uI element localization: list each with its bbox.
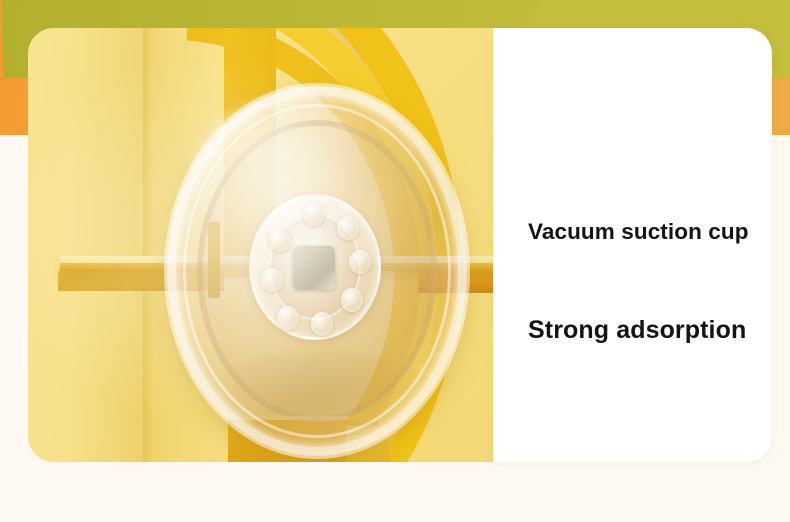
suction-hub-bump	[341, 288, 363, 312]
mount-tab	[208, 222, 220, 298]
suction-hub-bump	[349, 250, 371, 274]
headline-secondary: Strong adsorption	[528, 316, 746, 345]
banner-stage: Vacuum suction cup Strong adsorption	[0, 0, 790, 522]
suction-cup-assembly	[141, 50, 471, 450]
suction-hub-bump	[277, 306, 299, 330]
suction-hub-core	[293, 246, 335, 290]
headline-primary: Vacuum suction cup	[528, 219, 749, 245]
product-photo	[28, 28, 494, 462]
suction-hub-bump	[311, 312, 333, 336]
background-cream-strip	[0, 452, 790, 522]
suction-disc-highlight	[189, 98, 369, 248]
text-panel: Vacuum suction cup Strong adsorption	[493, 28, 772, 462]
suction-hub-bump	[261, 268, 283, 292]
